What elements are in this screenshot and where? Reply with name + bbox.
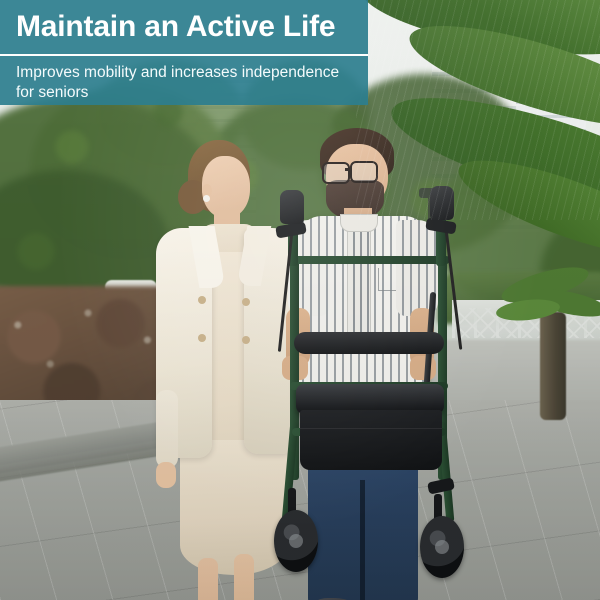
- headline-banner: Maintain an Active Life: [0, 0, 368, 54]
- eyeglasses-lens: [322, 162, 350, 184]
- walker-handle-grip: [280, 190, 304, 224]
- woman-skirt: [180, 440, 288, 575]
- woman-earring: [203, 195, 210, 202]
- walker-handle-grip: [430, 186, 454, 220]
- walker-storage-bag-seam: [300, 428, 442, 429]
- walker-backrest: [294, 332, 444, 354]
- walker-brake-cable: [445, 230, 463, 349]
- rollator-walker: [276, 232, 466, 600]
- blazer-button: [242, 298, 250, 306]
- subheadline-banner: Improves mobility and increases independ…: [0, 56, 368, 105]
- woman-leg: [198, 558, 218, 600]
- woman-hand: [156, 462, 176, 488]
- eyeglasses-bridge: [345, 168, 352, 171]
- blazer-button: [242, 336, 250, 344]
- page-subtitle-line-1: Improves mobility and increases independ…: [16, 64, 339, 81]
- page-subtitle-line-2: for seniors: [16, 84, 88, 101]
- walker-wheel-hub: [435, 540, 449, 554]
- palm-trunk: [540, 312, 566, 420]
- woman-arm: [156, 390, 178, 468]
- shirt-collar: [340, 214, 378, 232]
- woman-leg: [234, 554, 254, 600]
- walker-frame-crossbar: [288, 256, 450, 264]
- page-subtitle: Improves mobility and increases independ…: [16, 63, 352, 103]
- eyeglasses-lens: [350, 161, 378, 183]
- blazer-button: [198, 334, 206, 342]
- walker-wheel-hub: [289, 534, 303, 548]
- page-title: Maintain an Active Life: [16, 10, 352, 44]
- product-lifestyle-image: Maintain an Active Life Improves mobilit…: [0, 0, 600, 600]
- walker-storage-bag: [300, 410, 442, 470]
- blazer-button: [198, 296, 206, 304]
